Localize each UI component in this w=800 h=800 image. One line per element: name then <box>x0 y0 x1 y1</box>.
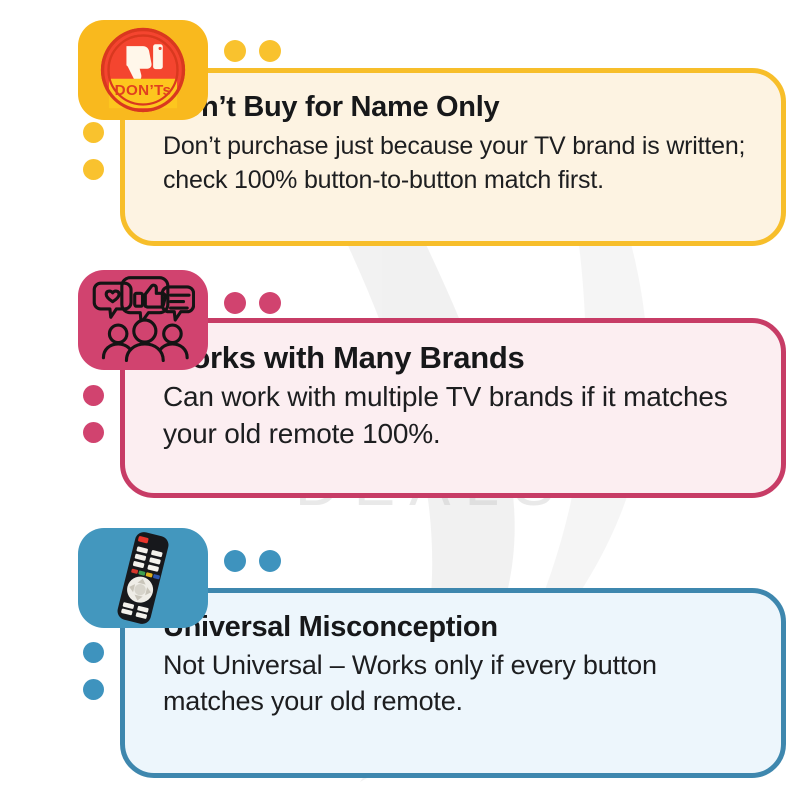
community-feedback-icon <box>91 274 195 366</box>
side-dot-1-a <box>83 122 104 143</box>
top-dot-3-a <box>224 550 246 572</box>
donts-badge-label: DON’Ts <box>115 82 172 99</box>
top-dot-1-a <box>224 40 246 62</box>
side-dot-3-b <box>83 679 104 700</box>
top-dot-2-a <box>224 292 246 314</box>
donts-thumbs-down-badge-icon: DON’Ts <box>97 24 189 116</box>
side-dot-2-a <box>83 385 104 406</box>
card-text-2: Can work with multiple TV brands if it m… <box>163 378 755 452</box>
top-dot-2-b <box>259 292 281 314</box>
top-dot-3-b <box>259 550 281 572</box>
card-dont-buy-for-name-only: Don’t Buy for Name Only Don’t purchase j… <box>0 0 800 258</box>
tv-remote-control-icon <box>93 530 193 626</box>
card-text-1: Don’t purchase just because your TV bran… <box>163 129 755 197</box>
side-dot-3-a <box>83 642 104 663</box>
card-works-with-many-brands: Works with Many Brands Can work with mul… <box>0 270 800 510</box>
side-dot-2-b <box>83 422 104 443</box>
card-text-3: Not Universal – Works only if every butt… <box>163 647 755 719</box>
icon-tab-2 <box>78 270 208 370</box>
card-universal-misconception: Universal Misconception Not Universal – … <box>0 528 800 788</box>
card-body-panel-2: Works with Many Brands Can work with mul… <box>120 318 786 498</box>
card-body-panel-3: Universal Misconception Not Universal – … <box>120 588 786 778</box>
card-body-panel-1: Don’t Buy for Name Only Don’t purchase j… <box>120 68 786 246</box>
card-title-1: Don’t Buy for Name Only <box>163 89 755 125</box>
icon-tab-1: DON’Ts <box>78 20 208 120</box>
icon-tab-3 <box>78 528 208 628</box>
top-dot-1-b <box>259 40 281 62</box>
side-dot-1-b <box>83 159 104 180</box>
card-stack: Don’t Buy for Name Only Don’t purchase j… <box>0 0 800 800</box>
card-title-2: Works with Many Brands <box>163 339 755 377</box>
card-title-3: Universal Misconception <box>163 609 755 646</box>
